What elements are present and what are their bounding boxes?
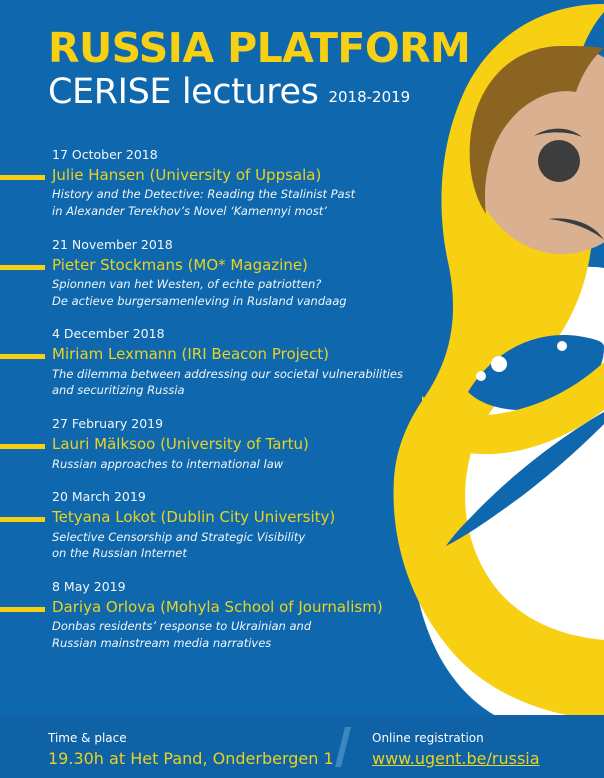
registration-block: Online registration www.ugent.be/russia xyxy=(372,729,540,770)
page-subtitle: CERISE lectures xyxy=(48,75,318,110)
lecture-topic-line: Spionnen van het Westen, of echte patrio… xyxy=(52,276,400,293)
doll-eye xyxy=(538,140,580,182)
dash-marker-icon xyxy=(0,354,45,359)
lecture-list: 17 October 2018 Julie Hansen (University… xyxy=(0,147,400,669)
lecture-speaker: Dariya Orlova (Mohyla School of Journali… xyxy=(52,596,400,619)
time-place-label: Time & place xyxy=(48,729,334,747)
poster-header: RUSSIA PLATFORM CERISE lectures 2018-201… xyxy=(48,28,470,110)
lecture-date: 21 November 2018 xyxy=(52,237,400,254)
list-item: 21 November 2018 Pieter Stockmans (MO* M… xyxy=(0,237,400,310)
dash-marker-icon xyxy=(0,444,45,449)
dash-marker-icon xyxy=(0,517,45,522)
time-place-value: 19.30h at Het Pand, Onderbergen 1 xyxy=(48,747,334,770)
lecture-date: 8 May 2019 xyxy=(52,579,400,596)
lecture-speaker: Julie Hansen (University of Uppsala) xyxy=(52,164,400,187)
poster-footer: Time & place 19.30h at Het Pand, Onderbe… xyxy=(0,715,604,778)
list-item: 20 March 2019 Tetyana Lokot (Dublin City… xyxy=(0,489,400,562)
doll-hair xyxy=(470,46,604,214)
doll-leaf-motif-upper xyxy=(468,335,604,410)
lecture-topic-line: and securitizing Russia xyxy=(52,382,400,399)
list-item: 17 October 2018 Julie Hansen (University… xyxy=(0,147,400,220)
lecture-topic-line: History and the Detective: Reading the S… xyxy=(52,186,400,203)
doll-collar xyxy=(422,362,604,454)
doll-headscarf xyxy=(394,4,604,720)
doll-eyebrow xyxy=(534,129,582,137)
lecture-topic-line: on the Russian Internet xyxy=(52,545,400,562)
doll-leaf-dot-large xyxy=(491,356,507,372)
lecture-topic-line: Russian approaches to international law xyxy=(52,456,400,473)
lecture-topic-line: Donbas residents’ response to Ukrainian … xyxy=(52,618,400,635)
list-item: 27 February 2019 Lauri Mälksoo (Universi… xyxy=(0,416,400,472)
doll-leaf-dot-small xyxy=(476,371,486,381)
doll-sash-motif xyxy=(446,412,604,546)
lecture-date: 27 February 2019 xyxy=(52,416,400,433)
lecture-date: 17 October 2018 xyxy=(52,147,400,164)
subtitle-row: CERISE lectures 2018-2019 xyxy=(48,75,470,110)
registration-label: Online registration xyxy=(372,729,540,747)
doll-body-white xyxy=(411,267,604,724)
footer-separator-icon xyxy=(335,727,351,767)
academic-year-label: 2018-2019 xyxy=(328,88,410,110)
lecture-speaker: Tetyana Lokot (Dublin City University) xyxy=(52,506,400,529)
lecture-date: 4 December 2018 xyxy=(52,326,400,343)
dash-marker-icon xyxy=(0,607,45,612)
list-item: 4 December 2018 Miriam Lexmann (IRI Beac… xyxy=(0,326,400,399)
lecture-speaker: Lauri Mälksoo (University of Tartu) xyxy=(52,433,400,456)
registration-url-link[interactable]: www.ugent.be/russia xyxy=(372,747,540,770)
lecture-speaker: Miriam Lexmann (IRI Beacon Project) xyxy=(52,343,400,366)
lecture-date: 20 March 2019 xyxy=(52,489,400,506)
time-and-place-block: Time & place 19.30h at Het Pand, Onderbe… xyxy=(48,729,334,770)
dash-marker-icon xyxy=(0,175,45,180)
lecture-topic-line: The dilemma between addressing our socie… xyxy=(52,366,400,383)
list-item: 8 May 2019 Dariya Orlova (Mohyla School … xyxy=(0,579,400,652)
lecture-topic-line: in Alexander Terekhov’s Novel ‘Kamennyi … xyxy=(52,203,400,220)
lecture-topic-line: Selective Censorship and Strategic Visib… xyxy=(52,529,400,546)
doll-smile xyxy=(548,218,604,240)
lecture-speaker: Pieter Stockmans (MO* Magazine) xyxy=(52,254,400,277)
lecture-topic-line: Russian mainstream media narratives xyxy=(52,635,400,652)
doll-leaf-dot-right xyxy=(557,341,567,351)
doll-face xyxy=(470,46,604,254)
page-title: RUSSIA PLATFORM xyxy=(48,28,470,69)
poster-root: RUSSIA PLATFORM CERISE lectures 2018-201… xyxy=(0,0,604,778)
dash-marker-icon xyxy=(0,265,45,270)
lecture-topic-line: De actieve burgersamenleving in Rusland … xyxy=(52,293,400,310)
